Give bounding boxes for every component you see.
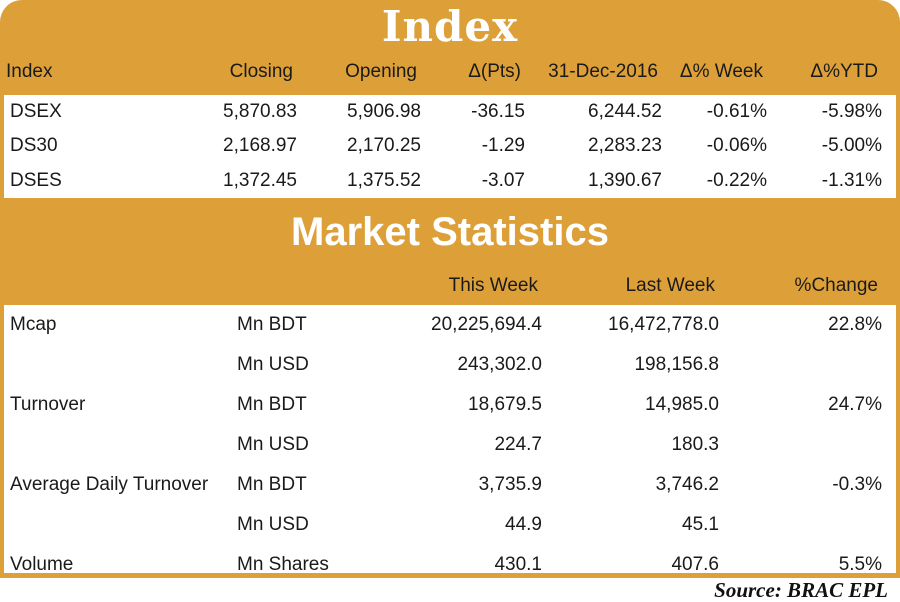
cell-index: DSEX xyxy=(10,95,62,129)
column-header-delta-pts: Δ(Pts) xyxy=(381,58,521,86)
cell-last-week: 14,985.0 xyxy=(560,385,719,425)
cell-pct-change: 24.7% xyxy=(739,385,882,425)
table-row: Mn USD 243,302.0 198,156.8 xyxy=(4,345,896,385)
column-header-pct-change: %Change xyxy=(735,272,878,300)
cell-this-week: 3,735.9 xyxy=(384,465,542,505)
column-header-this-week: This Week xyxy=(380,272,538,300)
cell-unit: Mn Shares xyxy=(237,545,329,585)
market-report-card: Index Index Closing Opening Δ(Pts) 31-De… xyxy=(0,0,900,600)
column-header-pct-ytd: Δ%YTD xyxy=(745,58,878,86)
table-row: Average Daily Turnover Mn BDT 3,735.9 3,… xyxy=(4,465,896,505)
column-header-index: Index xyxy=(6,58,52,86)
cell-last-week: 198,156.8 xyxy=(560,345,719,385)
cell-group-label: Turnover xyxy=(10,385,85,425)
cell-delta-pts: -36.15 xyxy=(385,95,525,129)
cell-this-week: 18,679.5 xyxy=(384,385,542,425)
cell-last-week: 180.3 xyxy=(560,425,719,465)
market-statistics-header: This Week Last Week %Change xyxy=(0,272,900,304)
table-row: Mcap Mn BDT 20,225,694.4 16,472,778.0 22… xyxy=(4,305,896,345)
cell-pct-week: -0.22% xyxy=(632,164,767,198)
cell-index: DS30 xyxy=(10,129,58,163)
cell-pct-ytd: -1.31% xyxy=(749,164,882,198)
table-row: Mn USD 224.7 180.3 xyxy=(4,425,896,465)
cell-last-week: 3,746.2 xyxy=(560,465,719,505)
cell-group-label: Volume xyxy=(10,545,73,585)
cell-delta-pts: -3.07 xyxy=(385,164,525,198)
cell-index: DSES xyxy=(10,164,62,198)
cell-last-week: 407.6 xyxy=(560,545,719,585)
cell-unit: Mn BDT xyxy=(237,385,307,425)
cell-unit: Mn USD xyxy=(237,505,309,545)
cell-unit: Mn USD xyxy=(237,345,309,385)
cell-this-week: 243,302.0 xyxy=(384,345,542,385)
cell-delta-pts: -1.29 xyxy=(385,129,525,163)
index-table-body: DSEX 5,870.83 5,906.98 -36.15 6,244.52 -… xyxy=(4,95,896,198)
cell-this-week: 44.9 xyxy=(384,505,542,545)
cell-unit: Mn USD xyxy=(237,425,309,465)
cell-this-week: 430.1 xyxy=(384,545,542,585)
cell-pct-week: -0.61% xyxy=(632,95,767,129)
cell-pct-change: -0.3% xyxy=(739,465,882,505)
table-row: DSES 1,372.45 1,375.52 -3.07 1,390.67 -0… xyxy=(4,164,896,198)
index-table-header: Index Closing Opening Δ(Pts) 31-Dec-2016… xyxy=(0,58,900,90)
source-attribution: Source: BRAC EPL xyxy=(714,578,888,602)
market-statistics-body: Mcap Mn BDT 20,225,694.4 16,472,778.0 22… xyxy=(4,305,896,573)
cell-group-label: Average Daily Turnover xyxy=(10,465,208,505)
cell-this-week: 20,225,694.4 xyxy=(384,305,542,345)
cell-this-week: 224.7 xyxy=(384,425,542,465)
cell-unit: Mn BDT xyxy=(237,465,307,505)
column-header-last-week: Last Week xyxy=(556,272,715,300)
cell-last-week: 45.1 xyxy=(560,505,719,545)
cell-last-week: 16,472,778.0 xyxy=(560,305,719,345)
table-row: Mn USD 44.9 45.1 xyxy=(4,505,896,545)
cell-pct-change: 22.8% xyxy=(739,305,882,345)
cell-group-label: Mcap xyxy=(10,305,56,345)
table-row: DSEX 5,870.83 5,906.98 -36.15 6,244.52 -… xyxy=(4,95,896,129)
cell-pct-ytd: -5.00% xyxy=(749,129,882,163)
cell-unit: Mn BDT xyxy=(237,305,307,345)
cell-pct-week: -0.06% xyxy=(632,129,767,163)
market-statistics-title: Market Statistics xyxy=(0,206,900,258)
cell-pct-ytd: -5.98% xyxy=(749,95,882,129)
column-header-pct-week: Δ% Week xyxy=(628,58,763,86)
index-section-title: Index xyxy=(0,2,900,52)
table-row: Turnover Mn BDT 18,679.5 14,985.0 24.7% xyxy=(4,385,896,425)
table-row: DS30 2,168.97 2,170.25 -1.29 2,283.23 -0… xyxy=(4,129,896,163)
